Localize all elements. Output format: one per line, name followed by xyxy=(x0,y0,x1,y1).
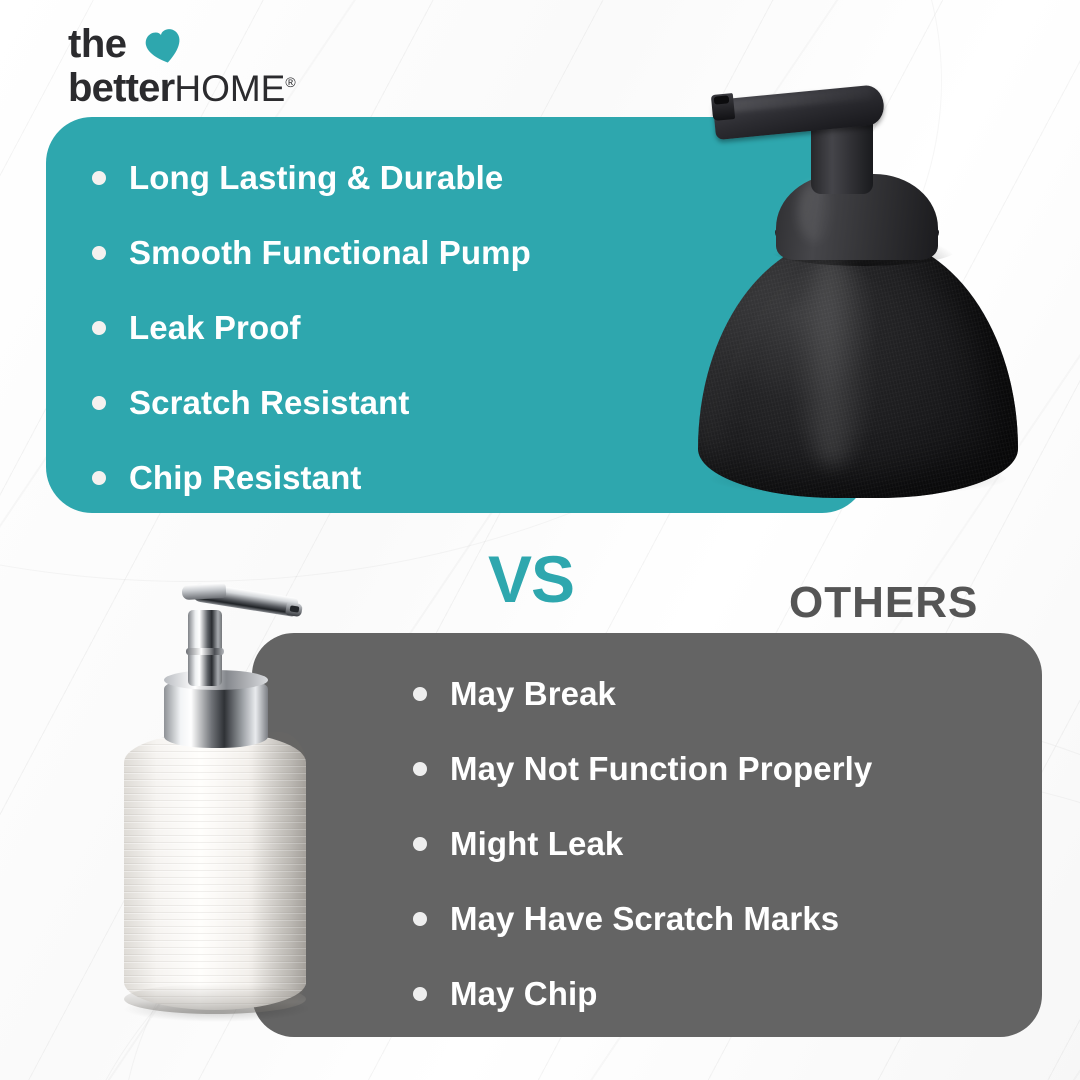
brand-logo-row-the: the xyxy=(68,22,368,68)
bullet-icon xyxy=(413,987,427,1001)
list-item-label: Smooth Functional Pump xyxy=(129,234,531,272)
product-pump-nozzle-opening xyxy=(714,95,730,104)
list-item-label: May Not Function Properly xyxy=(450,750,872,788)
bullet-icon xyxy=(92,471,106,485)
bullet-icon xyxy=(413,762,427,776)
heart-icon xyxy=(144,27,184,67)
infographic-canvas: the betterHOME® Long Lasting & Durable S… xyxy=(0,0,1080,1080)
list-item-label: May Break xyxy=(450,675,616,713)
list-item-label: May Have Scratch Marks xyxy=(450,900,839,938)
list-item: May Break xyxy=(413,656,1023,731)
brand-logo-row-betterhome: betterHOME® xyxy=(68,66,368,110)
brand-word-the: the xyxy=(68,22,127,66)
bullet-icon xyxy=(92,321,106,335)
bullet-icon xyxy=(92,246,106,260)
others-drawbacks-list: May Break May Not Function Properly Migh… xyxy=(413,656,1023,1031)
product-body-highlight xyxy=(794,254,872,466)
product-base-edge xyxy=(124,984,306,1014)
product-body-shading xyxy=(252,732,306,1010)
product-chrome-pump-lever xyxy=(182,583,227,600)
product-chrome-stem-ring xyxy=(186,648,224,655)
product-body xyxy=(698,236,1018,498)
bullet-icon xyxy=(413,912,427,926)
list-item: May Chip xyxy=(413,956,1023,1031)
list-item: May Not Function Properly xyxy=(413,731,1023,806)
list-item-label: Chip Resistant xyxy=(129,459,361,497)
bullet-icon xyxy=(92,396,106,410)
product-body xyxy=(124,732,306,1010)
list-item-label: May Chip xyxy=(450,975,597,1013)
brand-word-better: better xyxy=(68,66,174,110)
list-item-label: Leak Proof xyxy=(129,309,301,347)
brand-logo: the betterHOME® xyxy=(68,22,368,110)
list-item-label: Might Leak xyxy=(450,825,623,863)
list-item-label: Long Lasting & Durable xyxy=(129,159,503,197)
others-label: OTHERS xyxy=(789,578,978,628)
bullet-icon xyxy=(92,171,106,185)
bullet-icon xyxy=(413,837,427,851)
ours-product-image xyxy=(676,70,1080,500)
product-chrome-nozzle-opening xyxy=(290,605,300,612)
others-product-image xyxy=(116,556,346,1036)
vs-label: VS xyxy=(488,541,574,617)
list-item: May Have Scratch Marks xyxy=(413,881,1023,956)
registered-trademark-icon: ® xyxy=(285,74,295,90)
bullet-icon xyxy=(413,687,427,701)
list-item-label: Scratch Resistant xyxy=(129,384,409,422)
list-item: Might Leak xyxy=(413,806,1023,881)
product-pump-spout-highlight xyxy=(723,87,873,113)
brand-word-home: HOME xyxy=(174,68,285,109)
